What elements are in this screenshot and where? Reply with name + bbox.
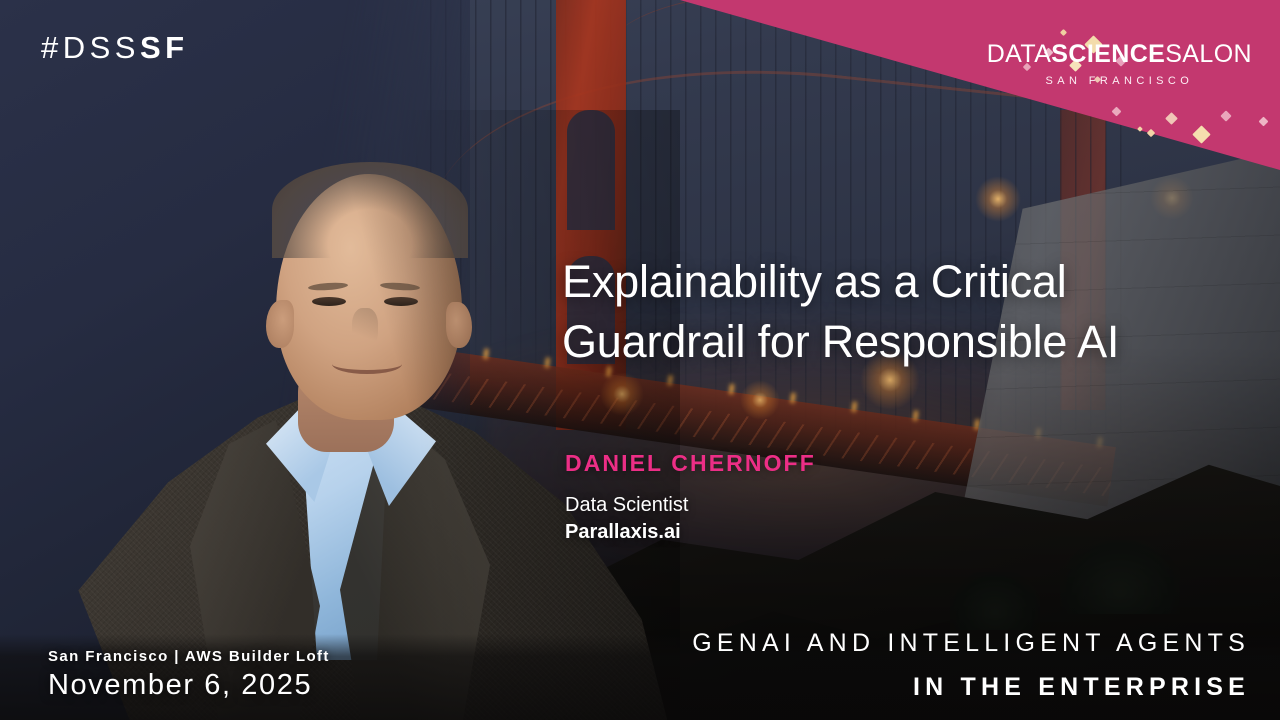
event-hashtag: #DSSSF (41, 32, 189, 63)
logo-salon: SALON (1165, 40, 1252, 68)
nose (352, 308, 378, 348)
event-tagline-line1: GENAI AND INTELLIGENT AGENTS (692, 629, 1250, 658)
logo-city: SAN FRANCISCO (987, 76, 1252, 87)
hashtag-light-part: #DSS (41, 30, 140, 65)
ear-right (446, 302, 472, 348)
data-science-salon-logo: DATASCIENCESALON SAN FRANCISCO (987, 42, 1252, 87)
logo-science: SCIENCE (1051, 40, 1165, 68)
mouth-smile (332, 354, 402, 374)
talk-title: Explainability as a Critical Guardrail f… (562, 252, 1222, 372)
speaker-name: DANIEL CHERNOFF (565, 450, 816, 477)
eye-left (312, 297, 346, 306)
event-promo-slide: DATASCIENCESALON SAN FRANCISCO #DSSSF Ex… (0, 0, 1280, 720)
event-date: November 6, 2025 (48, 669, 312, 702)
logo-wordmark: DATASCIENCESALON (987, 42, 1252, 67)
speaker-role: Data Scientist (565, 494, 688, 517)
event-tagline-line2: IN THE ENTERPRISE (913, 673, 1250, 702)
speaker-organization: Parallaxis.ai (565, 521, 681, 544)
eye-right (384, 297, 418, 306)
hashtag-bold-part: SF (140, 30, 189, 65)
ear-left (266, 300, 294, 348)
speaker-portrait (40, 110, 680, 720)
event-venue: San Francisco | AWS Builder Loft (48, 648, 330, 665)
logo-data: DATA (987, 40, 1052, 68)
